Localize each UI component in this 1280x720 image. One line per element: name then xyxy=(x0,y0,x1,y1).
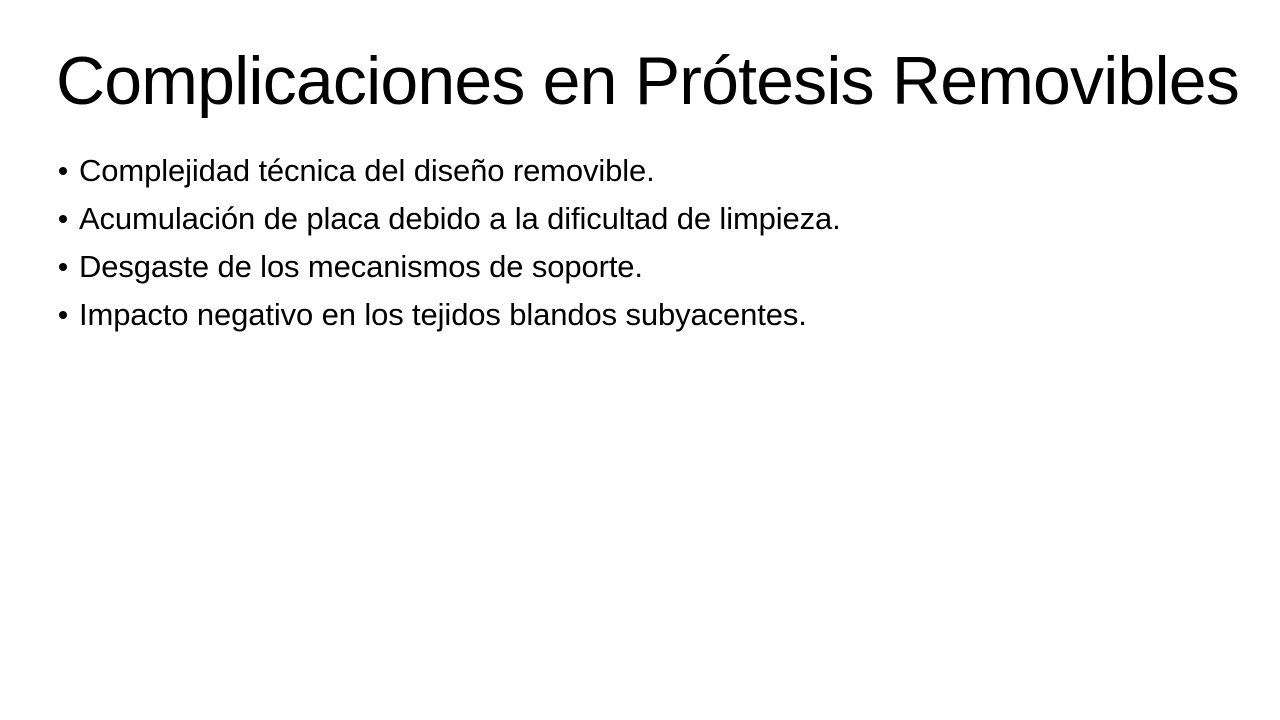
list-item-label: Complejidad técnica del diseño removible… xyxy=(79,153,655,188)
list-item-label: Desgaste de los mecanismos de soporte. xyxy=(79,249,643,284)
bullet-dot-icon xyxy=(59,263,67,271)
slide-canvas: Complicaciones en Prótesis Removibles Co… xyxy=(0,0,1280,720)
bullet-dot-icon xyxy=(59,167,67,175)
bullet-dot-icon xyxy=(59,215,67,223)
list-item-label: Acumulación de placa debido a la dificul… xyxy=(79,201,841,236)
bullet-list: Complejidad técnica del diseño removible… xyxy=(58,147,1218,339)
list-item-label: Impacto negativo en los tejidos blandos … xyxy=(79,297,807,332)
list-item: Acumulación de placa debido a la dificul… xyxy=(58,195,1218,243)
page-title: Complicaciones en Prótesis Removibles xyxy=(56,47,1226,115)
bullet-dot-icon xyxy=(59,311,67,319)
list-item: Complejidad técnica del diseño removible… xyxy=(58,147,1218,195)
list-item: Desgaste de los mecanismos de soporte. xyxy=(58,243,1218,291)
list-item: Impacto negativo en los tejidos blandos … xyxy=(58,291,1218,339)
